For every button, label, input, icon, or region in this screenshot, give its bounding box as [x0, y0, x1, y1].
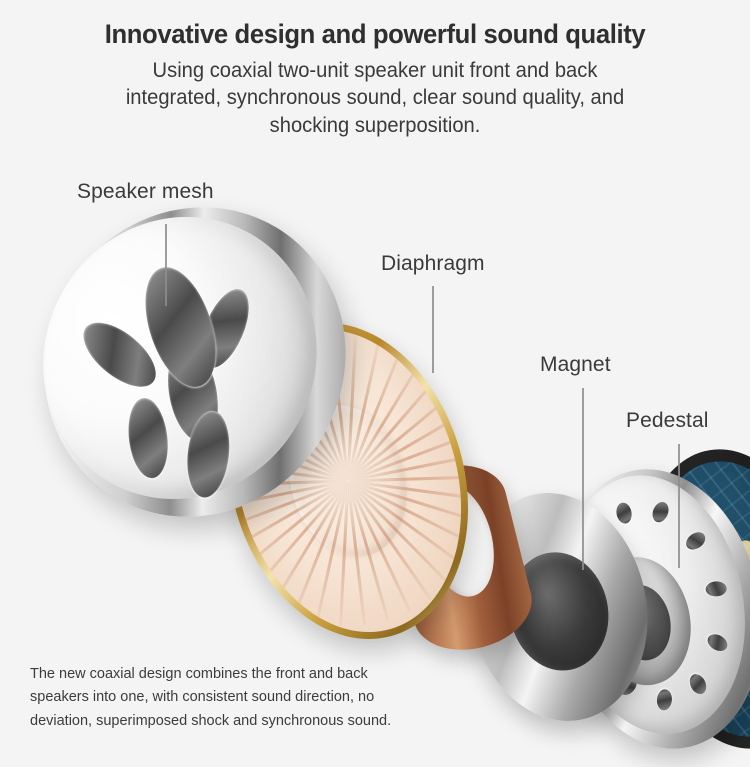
leader-line-magnet	[582, 388, 584, 570]
label-diaphragm: Diaphragm	[381, 252, 485, 276]
pedestal-vent-hole	[650, 500, 672, 525]
page-title: Innovative design and powerful sound qua…	[19, 20, 732, 50]
caption-line-1: The new coaxial design combines the fron…	[30, 663, 460, 686]
leader-line-speaker-mesh	[165, 224, 167, 306]
pedestal-vent-hole	[704, 631, 730, 654]
caption-line-3: deviation, superimposed shock and synchr…	[30, 710, 460, 733]
subtitle-line-2: integrated, synchronous sound, clear sou…	[15, 84, 735, 112]
subtitle-line-3: shocking superposition.	[15, 112, 735, 140]
pedestal-vent-hole	[705, 581, 727, 597]
pedestal-vent-hole	[687, 671, 710, 697]
caption-line-2: speakers into one, with consistent sound…	[30, 686, 460, 709]
product-infographic: Innovative design and powerful sound qua…	[0, 0, 750, 750]
label-magnet: Magnet	[540, 353, 611, 377]
subtitle-line-1: Using coaxial two-unit speaker unit fron…	[15, 57, 735, 85]
subtitle: Using coaxial two-unit speaker unit fron…	[15, 57, 735, 140]
mesh-slot	[124, 395, 173, 482]
leader-line-pedestal	[678, 444, 680, 568]
label-pedestal: Pedestal	[626, 409, 709, 433]
label-speaker-mesh: Speaker mesh	[77, 180, 214, 204]
header: Innovative design and powerful sound qua…	[0, 0, 750, 140]
pedestal-vent-hole	[682, 529, 708, 553]
leader-line-diaphragm	[432, 286, 434, 373]
caption: The new coaxial design combines the fron…	[30, 663, 460, 733]
